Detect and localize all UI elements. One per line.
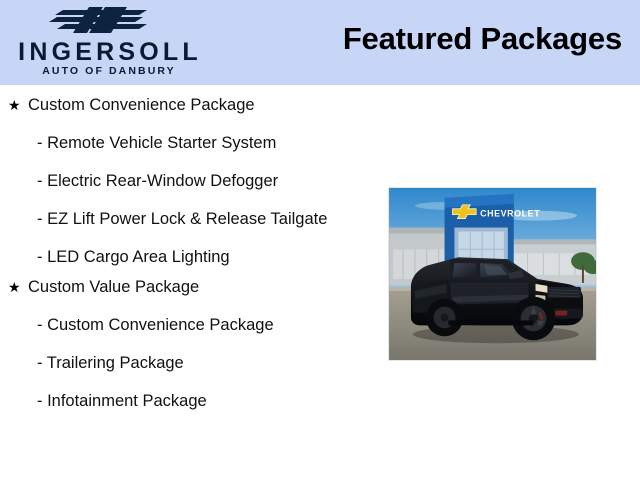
- page-header: INGERSOLL AUTO OF DANBURY Featured Packa…: [0, 0, 640, 85]
- list-item-label: - LED Cargo Area Lighting: [25, 247, 370, 267]
- list-item-label: - EZ Lift Power Lock & Release Tailgate: [25, 209, 370, 229]
- list-item-label: - Remote Vehicle Starter System: [25, 133, 370, 153]
- vehicle-photo[interactable]: CHEVROLET: [388, 187, 597, 361]
- list-item: - Custom Convenience Package: [0, 315, 370, 335]
- list-item-label: - Custom Convenience Package: [25, 315, 370, 335]
- star-bullet-icon: ★: [8, 95, 21, 115]
- dealer-name: INGERSOLL: [8, 39, 208, 65]
- dealer-logo: INGERSOLL AUTO OF DANBURY: [8, 4, 208, 82]
- list-item: - Trailering Package: [0, 353, 370, 373]
- list-item-label: - Electric Rear-Window Defogger: [25, 171, 370, 191]
- page-title: Featured Packages: [343, 21, 622, 57]
- package-list: ★Custom Convenience Package- Remote Vehi…: [0, 95, 370, 411]
- list-item: ★Custom Convenience Package: [0, 95, 370, 115]
- ingersoll-wing-emblem-icon: [43, 4, 173, 38]
- list-item-label: - Trailering Package: [25, 353, 370, 373]
- svg-text:CHEVROLET: CHEVROLET: [480, 209, 540, 219]
- list-item-label: Custom Convenience Package: [28, 95, 370, 115]
- package-content: ★Custom Convenience Package- Remote Vehi…: [0, 85, 370, 480]
- list-item: - Remote Vehicle Starter System: [0, 133, 370, 153]
- list-item: - Infotainment Package: [0, 391, 370, 411]
- list-item: ★Custom Value Package: [0, 277, 370, 297]
- list-item: - EZ Lift Power Lock & Release Tailgate: [0, 209, 370, 229]
- dealer-subtitle: AUTO OF DANBURY: [8, 65, 208, 78]
- list-item-label: - Infotainment Package: [25, 391, 370, 411]
- list-item-label: Custom Value Package: [28, 277, 370, 297]
- list-item: - LED Cargo Area Lighting: [0, 247, 370, 267]
- star-bullet-icon: ★: [8, 277, 21, 297]
- list-item: - Electric Rear-Window Defogger: [0, 171, 370, 191]
